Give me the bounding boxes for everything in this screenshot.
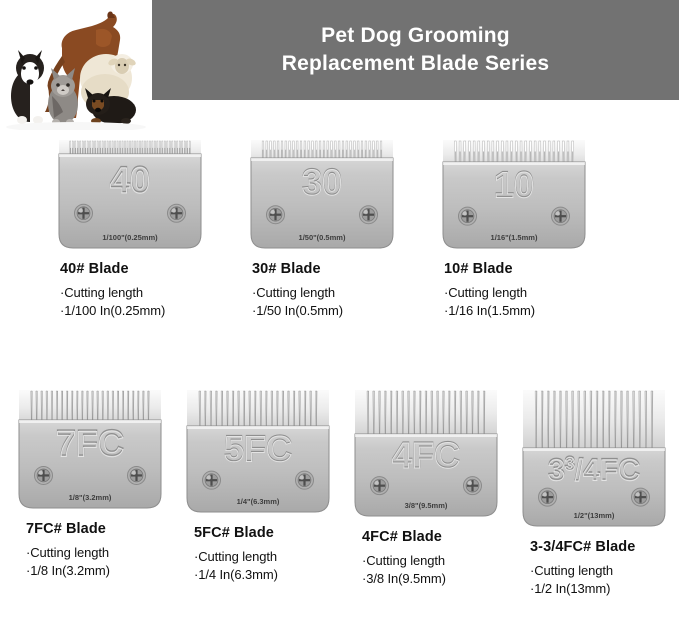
blade-spec-line: ·Cutting length [26,544,109,562]
svg-text:30: 30 [302,162,342,203]
svg-text:1/8"(3.2mm): 1/8"(3.2mm) [69,493,112,502]
svg-text:40: 40 [110,160,150,201]
svg-text:1/50"(0.5mm): 1/50"(0.5mm) [299,233,346,242]
blade-spec-line: ·1/100 In(0.25mm) [60,302,165,320]
blade-spec-line: ·1/4 In(6.3mm) [194,566,278,584]
page-title: Pet Dog Grooming Replacement Blade Serie… [282,22,549,77]
blade-labels: 40# Blade ·Cutting length ·1/100 In(0.25… [34,261,226,321]
blade-labels: 5FC# Blade ·Cutting length ·1/4 In(6.3mm… [174,525,342,585]
blade-spec-line: ·Cutting length [60,284,143,302]
blade-labels: 30# Blade ·Cutting length ·1/50 In(0.5mm… [226,261,418,321]
blade-title: 10# Blade [444,261,513,277]
svg-text:1/16"(1.5mm): 1/16"(1.5mm) [491,233,538,242]
blade-spec-line: ·Cutting length [530,562,613,580]
svg-text:3/8"(9.5mm): 3/8"(9.5mm) [405,501,448,510]
blade-card: 7FC7FC1/8"(3.2mm) 7FC# Blade ·Cutting le… [6,388,174,618]
blade-card: 30301/50"(0.5mm) 30# Blade ·Cutting leng… [226,138,418,378]
blade-labels: 4FC# Blade ·Cutting length ·3/8 In(9.5mm… [342,529,510,589]
title-line-2: Replacement Blade Series [282,50,549,78]
animals-photo [0,0,152,130]
blade-title: 30# Blade [252,261,321,277]
blade-title: 7FC# Blade [26,521,106,537]
blade-card: 10101/16"(1.5mm) 10# Blade ·Cutting leng… [418,138,610,378]
blade-spec-line: ·1/50 In(0.5mm) [252,302,343,320]
blade-title: 3-3/4FC# Blade [530,539,635,555]
blade-image: 33/4FC33/4FC1/2"(13mm) [519,388,669,533]
blade-spec-line: ·1/16 In(1.5mm) [444,302,535,320]
blade-image: 4FC4FC3/8"(9.5mm) [351,388,501,523]
blade-card: 4FC4FC3/8"(9.5mm) 4FC# Blade ·Cutting le… [342,388,510,618]
svg-text:1/2"(13mm): 1/2"(13mm) [574,511,615,520]
svg-text:5FC: 5FC [224,429,292,470]
svg-text:1/4"(6.3mm): 1/4"(6.3mm) [237,497,280,506]
blade-row-2: 7FC7FC1/8"(3.2mm) 7FC# Blade ·Cutting le… [0,388,679,618]
blade-spec-line: ·Cutting length [252,284,335,302]
blade-spec-line: ·1/2 In(13mm) [530,580,610,598]
svg-text:4FC: 4FC [392,435,460,476]
blade-spec-line: ·1/8 In(3.2mm) [26,562,110,580]
blade-labels: 7FC# Blade ·Cutting length ·1/8 In(3.2mm… [6,521,174,581]
blade-card: 40401/100"(0.25mm) 40# Blade ·Cutting le… [34,138,226,378]
title-banner: Pet Dog Grooming Replacement Blade Serie… [152,0,679,100]
blade-spec-line: ·Cutting length [444,284,527,302]
blade-image: 7FC7FC1/8"(3.2mm) [15,388,165,515]
blade-labels: 10# Blade ·Cutting length ·1/16 In(1.5mm… [418,261,610,321]
blade-spec-line: ·Cutting length [362,552,445,570]
page-header: Pet Dog Grooming Replacement Blade Serie… [0,0,679,130]
title-line-1: Pet Dog Grooming [282,22,549,50]
blade-title: 5FC# Blade [194,525,274,541]
svg-text:33/4FC: 33/4FC [548,454,640,487]
blade-row-1: 40401/100"(0.25mm) 40# Blade ·Cutting le… [0,138,679,378]
svg-text:1/100"(0.25mm): 1/100"(0.25mm) [102,233,158,242]
blade-spec-line: ·Cutting length [194,548,277,566]
blade-labels: 3-3/4FC# Blade ·Cutting length ·1/2 In(1… [510,539,678,599]
svg-text:10: 10 [494,165,534,206]
blade-image: 5FC5FC1/4"(6.3mm) [183,388,333,519]
blade-spec-line: ·3/8 In(9.5mm) [362,570,446,588]
blade-card: 33/4FC33/4FC1/2"(13mm) 3-3/4FC# Blade ·C… [510,388,678,618]
blade-image: 30301/50"(0.5mm) [247,138,397,255]
blade-image: 10101/16"(1.5mm) [439,138,589,255]
blade-image: 40401/100"(0.25mm) [55,138,205,255]
blade-title: 40# Blade [60,261,129,277]
svg-text:7FC: 7FC [56,423,124,464]
blade-card: 5FC5FC1/4"(6.3mm) 5FC# Blade ·Cutting le… [174,388,342,618]
blade-title: 4FC# Blade [362,529,442,545]
